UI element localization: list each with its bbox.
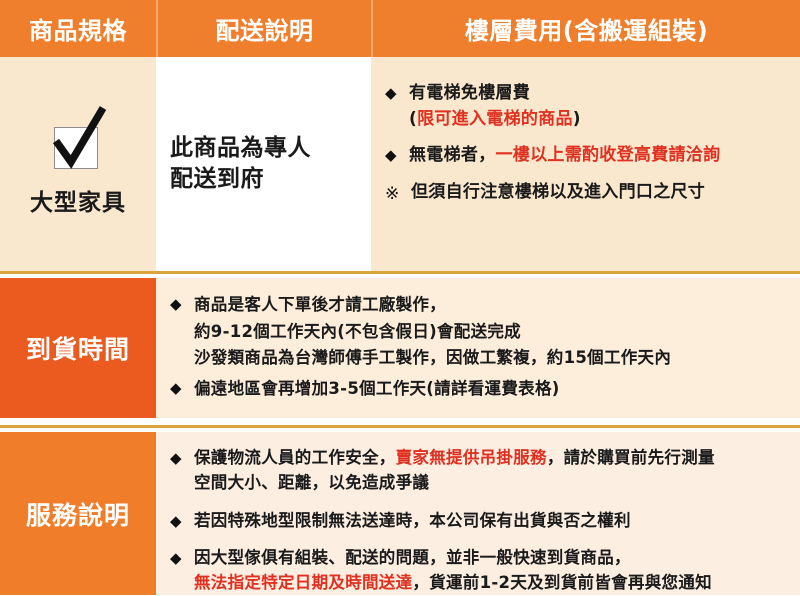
table-header-row: 商品規格 配送說明 樓層費用(含搬運組裝) [0, 0, 800, 57]
text-segment: 因大型傢俱有組裝、配送的問題，並非一般快速到貨商品， [194, 548, 631, 567]
diamond-bullet-icon: ◆ [170, 509, 194, 533]
text-segment: 保護物流人員的工作安全， [194, 448, 396, 467]
bullet-text: 偏遠地區會再增加3-5個工作天(請詳看運費表格) [194, 376, 790, 403]
service-note-label: 服務說明 [26, 496, 130, 532]
header-cell-floor-fee: 樓層費用(含搬運組裝) [371, 0, 800, 57]
text-segment: ，請於購買前先行測量 [547, 448, 715, 467]
shipping-info-table: 商品規格 配送說明 樓層費用(含搬運組裝) 大型家具 此商品為專人 配送到府 ◆… [0, 0, 800, 595]
text-segment: 偏遠地區會再增加3-5個工作天(請詳看運費表格) [194, 379, 560, 398]
header-cell-product-spec: 商品規格 [0, 0, 156, 57]
cell-floor-fee: ◆有電梯免樓層費(限可進入電梯的商品)◆無電梯者，一樓以上需酌收登高費請洽詢※但… [371, 57, 800, 271]
table-row-large-furniture: 大型家具 此商品為專人 配送到府 ◆有電梯免樓層費(限可進入電梯的商品)◆無電梯… [0, 57, 800, 271]
bullet-text: 若因特殊地型限制無法送達時，本公司保有出貨與否之權利 [194, 509, 790, 534]
text-segment: 但須自行注意樓梯以及進入門口之尺寸 [411, 182, 705, 202]
highlighted-text: 限可進入電梯的商品 [417, 109, 573, 129]
text-segment: 沙發類商品為台灣師傅手工製作，因做工繁複，約15個工作天內 [194, 348, 671, 367]
bullet-item: ◆保護物流人員的工作安全，賣家無提供吊掛服務，請於購買前先行測量空間大小、距離，… [170, 446, 790, 496]
diamond-bullet-icon: ◆ [170, 446, 194, 470]
diamond-bullet-icon: ◆ [385, 81, 409, 105]
delivery-note-line-2: 配送到府 [170, 164, 311, 195]
diamond-bullet-icon: ◆ [385, 143, 409, 167]
highlighted-text: 賣家無提供吊掛服務 [396, 448, 547, 467]
reference-mark-icon: ※ [385, 180, 411, 207]
header-cell-delivery-note: 配送說明 [156, 0, 371, 57]
bullet-text: 商品是客人下單後才請工廠製作，約9-12個工作天內(不包含假日)會配送完成沙發類… [194, 292, 790, 372]
cell-service-note-content: ◆保護物流人員的工作安全，賣家無提供吊掛服務，請於購買前先行測量空間大小、距離，… [156, 432, 800, 595]
bullet-item: ◆若因特殊地型限制無法送達時，本公司保有出貨與否之權利 [170, 509, 790, 534]
delivery-note-line-1: 此商品為專人 [170, 133, 311, 164]
bullet-item: ◆有電梯免樓層費(限可進入電梯的商品) [385, 81, 788, 132]
text-segment: ( [409, 109, 417, 129]
bullet-text: 但須自行注意樓梯以及進入門口之尺寸 [411, 180, 788, 206]
arrival-time-label: 到貨時間 [26, 330, 130, 366]
text-segment: 空間大小、距離，以免造成爭議 [194, 473, 429, 492]
bullet-item: ◆商品是客人下單後才請工廠製作，約9-12個工作天內(不包含假日)會配送完成沙發… [170, 292, 790, 372]
bullet-item: ※但須自行注意樓梯以及進入門口之尺寸 [385, 180, 788, 207]
text-segment: 約9-12個工作天內(不包含假日)會配送完成 [194, 322, 521, 341]
row-divider-2 [0, 425, 800, 428]
highlighted-text: 一樓以上需酌收登高費請洽詢 [496, 145, 721, 165]
checkbox-checked-icon [46, 105, 110, 171]
table-row-service-note: 服務說明 ◆保護物流人員的工作安全，賣家無提供吊掛服務，請於購買前先行測量空間大… [0, 432, 800, 595]
cell-arrival-time-content: ◆商品是客人下單後才請工廠製作，約9-12個工作天內(不包含假日)會配送完成沙發… [156, 278, 800, 418]
delivery-note-text: 此商品為專人 配送到府 [170, 133, 311, 195]
bullet-text: 有電梯免樓層費(限可進入電梯的商品) [409, 81, 788, 132]
text-segment: 商品是客人下單後才請工廠製作， [194, 295, 446, 314]
diamond-bullet-icon: ◆ [170, 376, 194, 400]
check-mark-icon [46, 105, 110, 171]
cell-label-arrival-time: 到貨時間 [0, 278, 156, 418]
table-row-arrival-time: 到貨時間 ◆商品是客人下單後才請工廠製作，約9-12個工作天內(不包含假日)會配… [0, 278, 800, 418]
text-segment: ，貨運前1-2天及到貨前皆會再與您通知 [412, 573, 712, 592]
cell-product-spec: 大型家具 [0, 57, 156, 271]
row-divider-1 [0, 271, 800, 274]
text-segment: ) [573, 109, 581, 129]
bullet-item: ◆偏遠地區會再增加3-5個工作天(請詳看運費表格) [170, 376, 790, 403]
text-segment: 若因特殊地型限制無法送達時，本公司保有出貨與否之權利 [194, 511, 631, 530]
text-segment: 無電梯者， [409, 145, 496, 165]
bullet-item: ◆無電梯者，一樓以上需酌收登高費請洽詢 [385, 143, 788, 169]
bullet-text: 因大型傢俱有組裝、配送的問題，並非一般快速到貨商品，無法指定特定日期及時間送達，… [194, 546, 790, 596]
diamond-bullet-icon: ◆ [170, 546, 194, 570]
highlighted-text: 無法指定特定日期及時間送達 [194, 573, 412, 592]
cell-label-service-note: 服務說明 [0, 432, 156, 595]
bullet-item: ◆因大型傢俱有組裝、配送的問題，並非一般快速到貨商品，無法指定特定日期及時間送達… [170, 546, 790, 596]
cell-delivery-note: 此商品為專人 配送到府 [156, 57, 371, 271]
diamond-bullet-icon: ◆ [170, 292, 194, 316]
text-segment: 有電梯免樓層費 [409, 83, 530, 103]
bullet-text: 保護物流人員的工作安全，賣家無提供吊掛服務，請於購買前先行測量空間大小、距離，以… [194, 446, 790, 496]
bullet-text: 無電梯者，一樓以上需酌收登高費請洽詢 [409, 143, 788, 169]
product-spec-label: 大型家具 [30, 183, 126, 217]
